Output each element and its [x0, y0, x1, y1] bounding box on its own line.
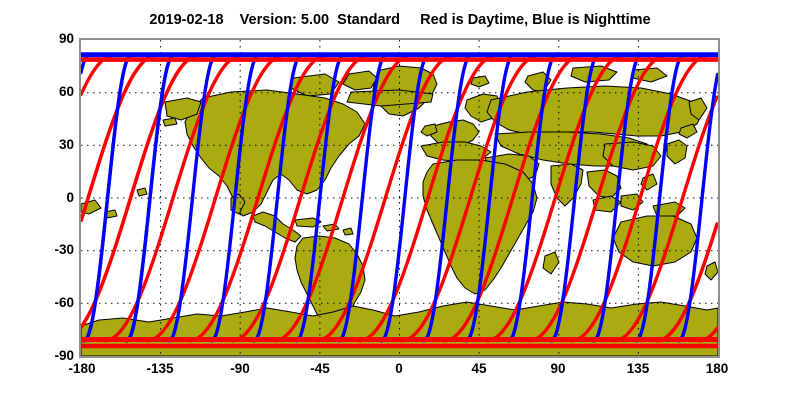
- x-tick-180: 180: [706, 362, 729, 376]
- y-tick-0: 0: [40, 191, 74, 205]
- x-tick-m180: -180: [68, 362, 95, 376]
- x-axis-labels: -180 -135 -90 -45 0 45 90 135 180: [0, 362, 800, 382]
- x-tick-m90: -90: [230, 362, 250, 376]
- figure-title: 2019-02-18 Version: 5.00 Standard Red is…: [0, 12, 800, 28]
- plot-area: [79, 38, 720, 358]
- x-tick-m45: -45: [310, 362, 330, 376]
- x-tick-m135: -135: [146, 362, 173, 376]
- map-canvas: [81, 40, 718, 356]
- y-tick-m30: -30: [40, 243, 74, 257]
- map-svg: [81, 40, 718, 356]
- x-tick-45: 45: [471, 362, 486, 376]
- y-tick-60: 60: [40, 85, 74, 99]
- aleutian-tip: [163, 118, 177, 126]
- x-tick-90: 90: [550, 362, 565, 376]
- x-tick-135: 135: [627, 362, 650, 376]
- pacific-island-b: [137, 188, 147, 196]
- y-tick-30: 30: [40, 138, 74, 152]
- y-tick-90: 90: [40, 32, 74, 46]
- ground-track-map-figure: 2019-02-18 Version: 5.00 Standard Red is…: [0, 0, 800, 400]
- x-tick-0: 0: [395, 362, 403, 376]
- y-axis-labels: 90 60 30 0 -30 -60 -90: [34, 0, 74, 400]
- y-tick-m60: -60: [40, 296, 74, 310]
